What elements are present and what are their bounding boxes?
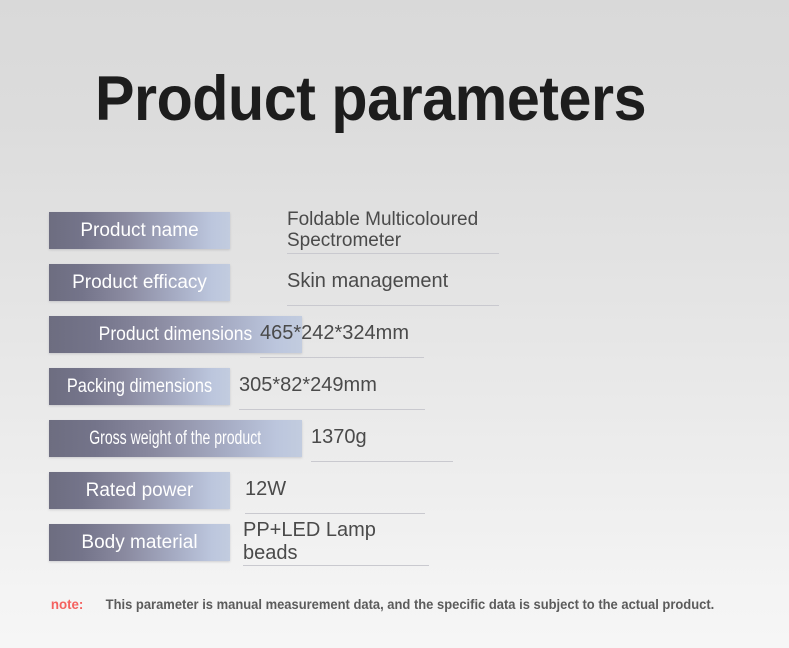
parameter-row: Gross weight of the product1370g bbox=[49, 414, 749, 466]
parameter-row: Body materialPP+LED Lamp beads bbox=[49, 518, 749, 570]
parameter-row: Product efficacySkin management bbox=[49, 258, 749, 310]
parameter-label-badge: Rated power bbox=[49, 472, 230, 509]
footnote-text: This parameter is manual measurement dat… bbox=[106, 597, 715, 612]
parameter-value: Foldable Multicoloured Spectrometer bbox=[287, 206, 499, 254]
parameters-table: Product nameFoldable Multicoloured Spect… bbox=[49, 206, 749, 570]
parameter-label-text: Product efficacy bbox=[72, 273, 207, 292]
parameter-value: 465*242*324mm bbox=[260, 310, 424, 358]
parameter-label-text: Rated power bbox=[86, 481, 194, 500]
parameter-value: Skin management bbox=[287, 258, 499, 306]
footnote: note: This parameter is manual measureme… bbox=[50, 596, 727, 612]
parameter-row: Packing dimensions305*82*249mm bbox=[49, 362, 749, 414]
parameter-label-badge: Packing dimensions bbox=[49, 368, 230, 405]
parameter-label-badge: Gross weight of the product bbox=[49, 420, 302, 457]
parameter-value: 1370g bbox=[311, 414, 453, 462]
parameter-row: Product dimensions465*242*324mm bbox=[49, 310, 749, 362]
parameter-row: Product nameFoldable Multicoloured Spect… bbox=[49, 206, 749, 258]
parameter-label-text: Packing dimensions bbox=[67, 377, 212, 396]
page-title: Product parameters bbox=[95, 68, 646, 131]
parameter-label-badge: Product name bbox=[49, 212, 230, 249]
product-parameters-page: Product parameters Product nameFoldable … bbox=[0, 0, 789, 648]
parameter-label-badge: Body material bbox=[49, 524, 230, 561]
parameter-value: 305*82*249mm bbox=[239, 362, 425, 410]
parameter-label-text: Product dimensions bbox=[99, 325, 253, 344]
parameter-value: PP+LED Lamp beads bbox=[243, 518, 429, 566]
parameter-label-badge: Product efficacy bbox=[49, 264, 230, 301]
parameter-label-text: Body material bbox=[81, 533, 197, 552]
footnote-label: note: bbox=[51, 596, 84, 612]
parameter-value: 12W bbox=[245, 466, 425, 514]
parameter-label-text: Product name bbox=[80, 221, 198, 240]
parameter-row: Rated power12W bbox=[49, 466, 749, 518]
parameter-label-text: Gross weight of the product bbox=[90, 429, 262, 448]
